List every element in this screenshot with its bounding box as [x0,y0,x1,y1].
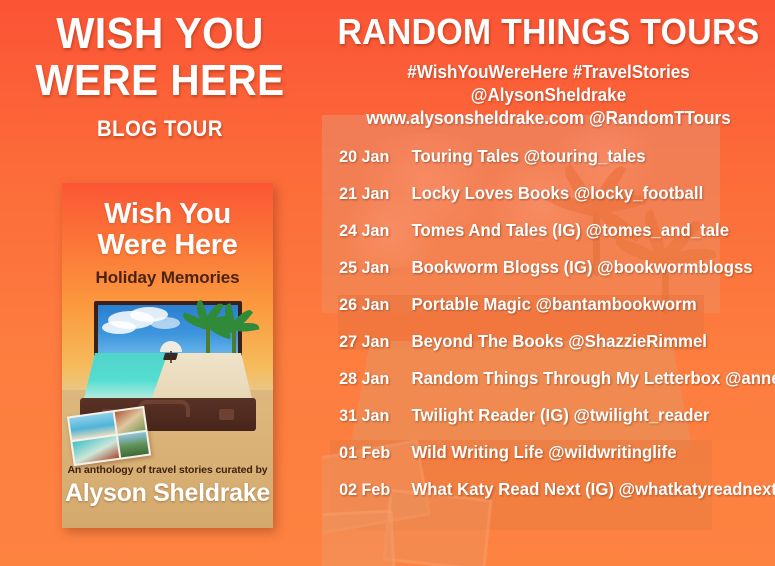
cover-subtitle: Holiday Memories [62,268,273,288]
schedule-blog-name: Bookworm Blogss (IG) @bookwormblogss [398,257,753,278]
schedule-date: 20 Jan [324,147,396,167]
cover-author-name: Alyson Sheldrake [62,479,273,508]
book-cover: Wish You Were Here Holiday Memories [62,183,273,528]
poster-title-line-2: WERE HERE [13,57,307,104]
schedule-date: 01 Feb [324,443,396,463]
poster-subtitle: BLOG TOUR [13,116,307,142]
cover-title-line-2: Were Here [62,230,273,261]
schedule-blog-name: Beyond The Books @ShazzieRimmel [398,331,707,352]
schedule-date: 31 Jan [324,406,396,426]
schedule-blog-name: What Katy Read Next (IG) @whatkatyreadne… [398,479,775,500]
schedule-blog-name: Portable Magic @bantambookworm [398,294,697,315]
schedule-date: 26 Jan [324,295,396,315]
schedule-date: 24 Jan [324,221,396,241]
tours-header-block: RANDOM THINGS TOURS #WishYouWereHere #Tr… [322,12,775,130]
schedule-date: 27 Jan [324,332,396,352]
left-headline-block: WISH YOU WERE HERE BLOG TOUR [0,10,320,142]
cover-title-line-1: Wish You [62,199,273,230]
suitcase-handle [138,400,190,417]
schedule-row: 27 JanBeyond The Books @ShazzieRimmel [322,331,775,368]
poster-title-line-1: WISH YOU [13,10,307,57]
suitcase-latch [219,409,234,420]
schedule-row: 26 JanPortable Magic @bantambookworm [322,294,775,331]
blog-tour-poster: WISH YOU WERE HERE BLOG TOUR Wish You We… [0,0,775,566]
cover-anthology-line: An anthology of travel stories curated b… [62,464,273,476]
schedule-row: 31 JanTwilight Reader (IG) @twilight_rea… [322,405,775,442]
schedule-blog-name: Tomes And Tales (IG) @tomes_and_tale [398,220,729,241]
schedule-row: 25 JanBookworm Blogss (IG) @bookwormblog… [322,257,775,294]
schedule-row: 28 JanRandom Things Through My Letterbox… [322,368,775,405]
schedule-row: 24 JanTomes And Tales (IG) @tomes_and_ta… [322,220,775,257]
schedule-row: 02 FebWhat Katy Read Next (IG) @whatkaty… [322,479,775,516]
beach-lounger-icon [163,353,178,360]
schedule-date: 21 Jan [324,184,396,204]
schedule-row: 21 JanLocky Loves Books @locky_football [322,183,775,220]
suitcase-interior-beach [83,353,253,403]
schedule-blog-name: Twilight Reader (IG) @twilight_reader [398,405,709,426]
hashtags-block: #WishYouWereHere #TravelStories @AlysonS… [333,61,763,130]
schedule-date: 25 Jan [324,258,396,278]
tours-title: RANDOM THINGS TOURS [336,12,762,52]
schedule-blog-name: Touring Tales @touring_tales [398,146,646,167]
hashtags-line-2: www.alysonsheldrake.com @RandomTTours [333,107,763,130]
schedule-date: 28 Jan [324,369,396,389]
watermark-photo [322,509,395,566]
hashtags-line-1: #WishYouWereHere #TravelStories @AlysonS… [333,61,763,107]
schedule-blog-name: Random Things Through My Letterbox @anne… [398,368,775,389]
schedule-date: 02 Feb [324,480,396,500]
schedule-row: 01 FebWild Writing Life @wildwritinglife [322,442,775,479]
schedule-row: 20 JanTouring Tales @touring_tales [322,146,775,183]
schedule-blog-name: Locky Loves Books @locky_football [398,183,703,204]
schedule-blog-name: Wild Writing Life @wildwritinglife [398,442,677,463]
ocean-water [83,353,182,403]
cover-title: Wish You Were Here [62,199,273,261]
tour-schedule-list: 20 JanTouring Tales @touring_tales21 Jan… [322,146,775,516]
